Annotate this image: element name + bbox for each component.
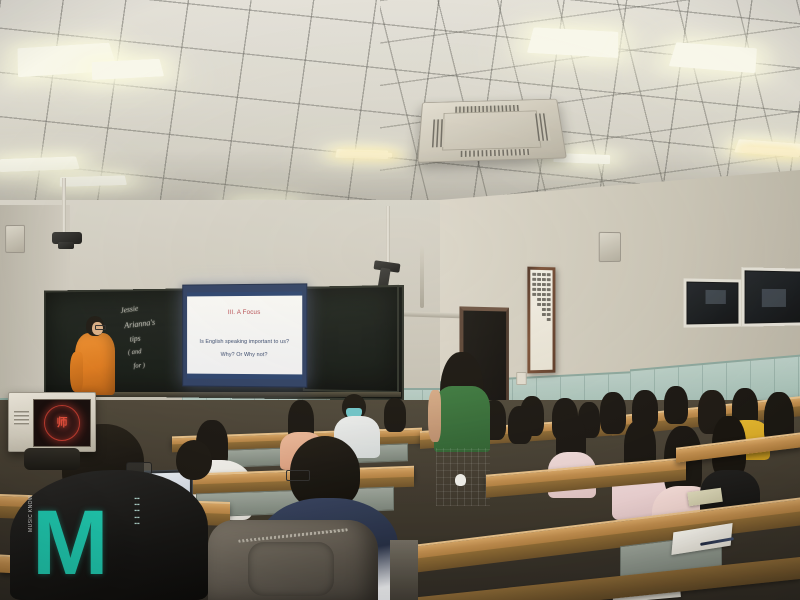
podium-screen[interactable]: 师: [33, 399, 91, 447]
classroom-photo: Jessie Arianna's tips ( and for ) III. A…: [0, 0, 800, 600]
student-head: [600, 392, 626, 434]
slide-question-line-2: Why? Or Why not?: [187, 352, 302, 358]
slide-bottom-bar: [187, 374, 302, 380]
student-head: [508, 406, 532, 444]
projector-lens: [58, 242, 74, 249]
projector-mount-pole: [386, 206, 390, 264]
wall-speaker: [5, 225, 25, 253]
presentation-slide: III. A Focus Is English speaking importa…: [187, 291, 302, 379]
scroll-column: [533, 273, 536, 367]
scroll-column: [537, 273, 540, 367]
student-head: [664, 386, 688, 424]
projector-mount-pole: [62, 178, 66, 236]
slide-question-line-1: Is English speaking important to us?: [187, 339, 302, 345]
trousers-graphic: [455, 474, 466, 486]
student-head: [384, 398, 406, 432]
standing-student-shirt: [434, 386, 490, 452]
ceiling-light: [527, 27, 618, 58]
chalk-line: Jessie: [120, 304, 139, 315]
chalk-line: ( and: [128, 347, 142, 356]
window-right-pane: [742, 267, 800, 327]
scroll-column: [542, 273, 545, 367]
scroll-paper: [530, 270, 552, 371]
teacher-glasses: [95, 325, 106, 330]
backpack-pocket: [248, 542, 334, 596]
light-switch-plate[interactable]: [516, 372, 526, 385]
calligraphy-scroll: [527, 267, 555, 374]
ac-center-panel: [442, 110, 541, 150]
window-left-pane: [684, 278, 742, 327]
ac-vent: [432, 119, 445, 147]
shirt-vertical-text: ▪▪▪▪▪▪▪▪▪▪▪▪▪▪▪: [132, 496, 142, 527]
projector-screen: III. A Focus Is English speaking importa…: [182, 283, 307, 387]
wall-conduit: [420, 246, 424, 308]
lectern-podium[interactable]: 师: [8, 392, 96, 452]
podium-base: [24, 448, 80, 470]
scroll-column: [547, 273, 550, 367]
blackboard-right-section: [303, 285, 399, 393]
chalk-line: tips: [129, 334, 141, 344]
backpack[interactable]: [208, 520, 378, 600]
window-reflection: [706, 290, 726, 304]
student-shirt-m-graphic: M MUSIC KNOW ▪▪▪▪▪▪▪▪▪▪▪▪▪▪▪: [10, 470, 208, 600]
university-emblem: 师: [44, 405, 80, 441]
wall-speaker: [599, 232, 621, 262]
standing-student-arm: [428, 390, 441, 442]
chalk-line: Arianna's: [124, 317, 156, 330]
eyeglasses: [286, 470, 310, 481]
ac-vent: [535, 113, 551, 141]
chalk-line: for ): [133, 361, 145, 370]
desk-leg: [390, 540, 418, 600]
shirt-side-text: MUSIC KNOW: [28, 486, 34, 532]
backpack-zipper: [238, 528, 348, 542]
slide-title: III. A Focus: [187, 309, 302, 317]
slide-top-bar: [187, 291, 302, 296]
podium-vents: [14, 411, 29, 425]
student-head-foreground: [176, 440, 212, 480]
teacher-arm: [70, 352, 83, 392]
window-reflection: [762, 289, 786, 307]
